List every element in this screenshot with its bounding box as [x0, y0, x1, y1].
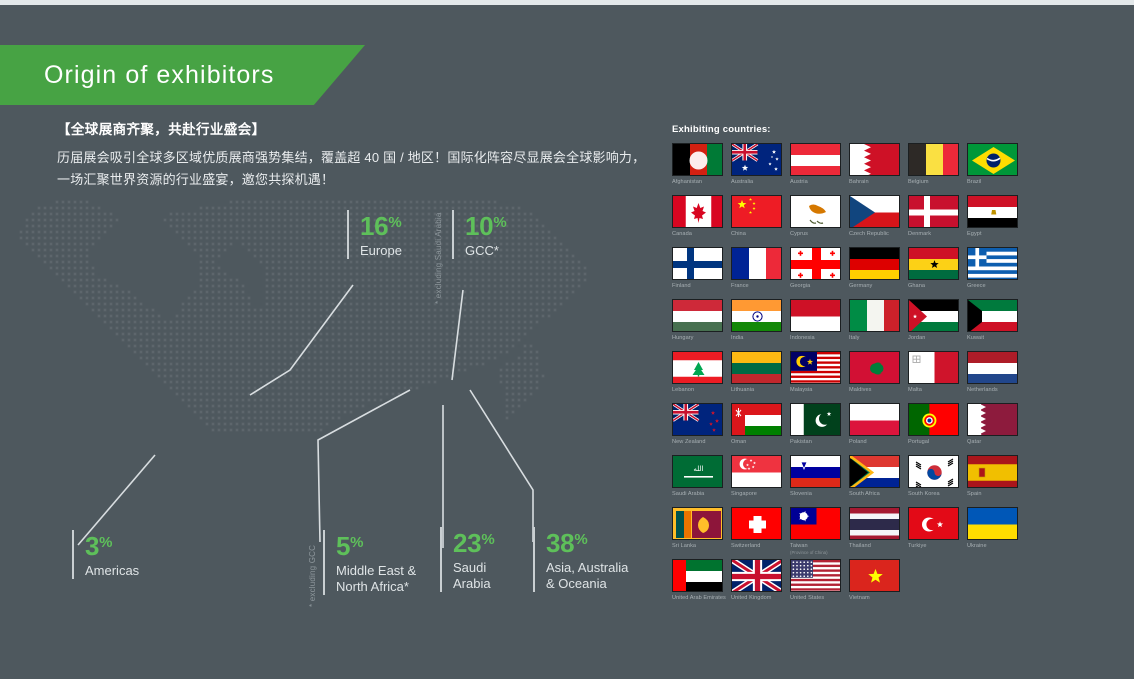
- flag-label: Denmark: [908, 231, 967, 238]
- flag-label: Ukraine: [967, 543, 1026, 550]
- flag-label: United States: [790, 595, 849, 602]
- flag-label: Austria: [790, 179, 849, 186]
- flag-label: United Arab Emirates: [672, 595, 731, 602]
- flag-item: Afghanistan: [672, 143, 731, 195]
- flag-label: Hungary: [672, 335, 731, 342]
- flag-label: Cyprus: [790, 231, 849, 238]
- flag-label: Australia: [731, 179, 790, 186]
- flag-item: Germany: [849, 247, 908, 299]
- flag-label: Afghanistan: [672, 179, 731, 186]
- flag-icon: [908, 247, 959, 280]
- flag-grid: Afghanistan AustraliaAustriaBahrainBelgi…: [672, 143, 1052, 611]
- flag-icon: [790, 507, 841, 540]
- flag-label: Sri Lanka: [672, 543, 731, 550]
- flag-icon: [672, 247, 723, 280]
- flag-icon: [672, 195, 723, 228]
- flag-item: Netherlands: [967, 351, 1026, 403]
- flag-label: Finland: [672, 283, 731, 290]
- flag-item: New Zealand: [672, 403, 731, 455]
- flag-icon: [908, 455, 959, 488]
- flag-label: Germany: [849, 283, 908, 290]
- flag-item: Vietnam: [849, 559, 908, 611]
- flag-label: Lebanon: [672, 387, 731, 394]
- flag-label: Belgium: [908, 179, 967, 186]
- stat-value-mena: 5%: [336, 530, 416, 559]
- flag-icon: [790, 247, 841, 280]
- flag-item: Georgia: [790, 247, 849, 299]
- flag-item: United Kingdom: [731, 559, 790, 611]
- flag-icon: [967, 247, 1018, 280]
- flag-icon: [967, 143, 1018, 176]
- flag-label: Poland: [849, 439, 908, 446]
- flag-icon: [849, 559, 900, 592]
- flag-icon: [731, 195, 782, 228]
- flag-label: Kuwait: [967, 335, 1026, 342]
- flag-icon: [672, 507, 723, 540]
- flag-item: Sri Lanka: [672, 507, 731, 559]
- flag-icon: [731, 559, 782, 592]
- flag-icon: [731, 455, 782, 488]
- flag-label: Greece: [967, 283, 1026, 290]
- page-title: Origin of exhibitors: [44, 61, 274, 90]
- flag-label: China: [731, 231, 790, 238]
- stat-label-asia: Asia, Australia & Oceania: [546, 560, 628, 592]
- flag-item: Slovenia: [790, 455, 849, 507]
- flag-item: United Arab Emirates: [672, 559, 731, 611]
- stat-value-asia: 38%: [546, 527, 628, 556]
- flag-label: Thailand: [849, 543, 908, 550]
- flag-item: France: [731, 247, 790, 299]
- flag-item: United States: [790, 559, 849, 611]
- flag-item: India: [731, 299, 790, 351]
- flag-icon: [790, 559, 841, 592]
- flag-item: Portugal: [908, 403, 967, 455]
- flag-item: Denmark: [908, 195, 967, 247]
- flag-item: Turkiye: [908, 507, 967, 559]
- flag-icon: [849, 299, 900, 332]
- intro-body: 历届展会吸引全球多区域优质展商强势集结，覆盖超 40 国 / 地区！国际化阵容尽…: [57, 147, 647, 191]
- flag-icon: [790, 455, 841, 488]
- flag-label: Lithuania: [731, 387, 790, 394]
- flag-icon: [967, 351, 1018, 384]
- flag-icon: [849, 455, 900, 488]
- flag-label: New Zealand: [672, 439, 731, 446]
- flag-icon: [672, 403, 723, 436]
- flag-item: Pakistan: [790, 403, 849, 455]
- flag-label: Vietnam: [849, 595, 908, 602]
- flag-label: Netherlands: [967, 387, 1026, 394]
- flag-item: Qatar: [967, 403, 1026, 455]
- flag-item: Brazil: [967, 143, 1026, 195]
- flag-item: Indonesia: [790, 299, 849, 351]
- stat-value-saudi-arabia: 23%: [453, 527, 494, 556]
- flag-item: Greece: [967, 247, 1026, 299]
- stat-value-gcc: 10%: [465, 210, 506, 239]
- top-accent-strip: [0, 0, 1134, 5]
- flag-icon: [790, 143, 841, 176]
- flag-item: South Korea: [908, 455, 967, 507]
- flag-icon: [849, 403, 900, 436]
- flag-label: Italy: [849, 335, 908, 342]
- flag-item: Lithuania: [731, 351, 790, 403]
- flag-label: Brazil: [967, 179, 1026, 186]
- stat-label-saudi-arabia: Saudi Arabia: [453, 560, 494, 592]
- slide-root: Origin of exhibitors 【全球展商齐聚，共赴行业盛会】 历届展…: [0, 0, 1134, 679]
- flag-label: Qatar: [967, 439, 1026, 446]
- intro-heading: 【全球展商齐聚，共赴行业盛会】: [57, 118, 647, 138]
- stat-label-mena: Middle East & North Africa*: [336, 563, 416, 595]
- flag-item: Thailand: [849, 507, 908, 559]
- flag-item: Maldives: [849, 351, 908, 403]
- footnote-excluding-saudi-arabia: * excluding Saudi Arabia: [434, 210, 443, 304]
- flag-icon: [672, 351, 723, 384]
- stat-label-europe: Europe: [360, 243, 402, 259]
- flag-icon: [790, 299, 841, 332]
- flag-item: Poland: [849, 403, 908, 455]
- flag-item: Australia: [731, 143, 790, 195]
- flag-label: Portugal: [908, 439, 967, 446]
- flag-label: Slovenia: [790, 491, 849, 498]
- flag-label: Oman: [731, 439, 790, 446]
- flag-label: United Kingdom: [731, 595, 790, 602]
- flag-icon: [790, 403, 841, 436]
- flag-icon: [731, 143, 782, 176]
- flag-item: Italy: [849, 299, 908, 351]
- flag-label: Singapore: [731, 491, 790, 498]
- flag-icon: [731, 299, 782, 332]
- flag-icon: [967, 299, 1018, 332]
- flag-label: Switzerland: [731, 543, 790, 550]
- flag-icon: [849, 351, 900, 384]
- flag-item: Singapore: [731, 455, 790, 507]
- intro-copy: 【全球展商齐聚，共赴行业盛会】 历届展会吸引全球多区域优质展商强势集结，覆盖超 …: [57, 118, 647, 191]
- flag-label: Ghana: [908, 283, 967, 290]
- flag-item: Jordan: [908, 299, 967, 351]
- stat-gcc: 10% GCC*: [452, 210, 506, 259]
- flag-icon: [849, 507, 900, 540]
- flag-label: Indonesia: [790, 335, 849, 342]
- flag-item: Switzerland: [731, 507, 790, 559]
- flag-icon: [908, 351, 959, 384]
- stat-value-europe: 16%: [360, 210, 402, 239]
- flag-label: Taiwan: [790, 543, 849, 550]
- world-map-chart: 16% Europe 10% GCC* * excluding Saudi Ar…: [0, 190, 660, 640]
- flag-item: اللهSaudi Arabia: [672, 455, 731, 507]
- flag-item: Spain: [967, 455, 1026, 507]
- svg-text:الله: الله: [693, 465, 703, 473]
- flag-item: Malta: [908, 351, 967, 403]
- flag-item: Lebanon: [672, 351, 731, 403]
- flag-item: Canada: [672, 195, 731, 247]
- stat-asia-australia-oceania: 38% Asia, Australia & Oceania: [533, 527, 628, 592]
- stat-europe: 16% Europe: [347, 210, 402, 259]
- flag-label: Bahrain: [849, 179, 908, 186]
- flag-icon: [967, 195, 1018, 228]
- flag-item: Belgium: [908, 143, 967, 195]
- flag-label: South Africa: [849, 491, 908, 498]
- flag-item: Egypt: [967, 195, 1026, 247]
- flag-label: Turkiye: [908, 543, 967, 550]
- flag-label: Canada: [672, 231, 731, 238]
- flag-label: Jordan: [908, 335, 967, 342]
- stat-mena: 5% Middle East & North Africa*: [323, 530, 416, 595]
- flag-item: Taiwan(Province of China): [790, 507, 849, 559]
- stat-label-americas: Americas: [85, 563, 139, 579]
- flag-icon: [908, 507, 959, 540]
- flag-label: Malta: [908, 387, 967, 394]
- exhibiting-countries-heading: Exhibiting countries:: [672, 124, 1052, 135]
- flag-icon: [908, 195, 959, 228]
- flag-icon: [967, 403, 1018, 436]
- stat-saudi-arabia: 23% Saudi Arabia: [440, 527, 494, 592]
- flag-icon: [731, 247, 782, 280]
- flag-icon: [790, 195, 841, 228]
- flag-icon: [672, 143, 723, 176]
- flag-item: Kuwait: [967, 299, 1026, 351]
- flag-item: Cyprus: [790, 195, 849, 247]
- flag-item: Malaysia: [790, 351, 849, 403]
- flag-icon: [849, 143, 900, 176]
- flag-label: Maldives: [849, 387, 908, 394]
- flag-icon: [790, 351, 841, 384]
- stat-americas: 3% Americas: [72, 530, 139, 579]
- flag-item: Ghana: [908, 247, 967, 299]
- stat-label-gcc: GCC*: [465, 243, 506, 259]
- flag-item: China: [731, 195, 790, 247]
- stat-value-americas: 3%: [85, 530, 139, 559]
- flag-item: Austria: [790, 143, 849, 195]
- flag-icon: [849, 247, 900, 280]
- exhibiting-countries-panel: Exhibiting countries: Afghanistan Austra…: [672, 124, 1052, 611]
- flag-sublabel: (Province of China): [790, 550, 849, 556]
- flag-item: Czech Republic: [849, 195, 908, 247]
- flag-label: Czech Republic: [849, 231, 908, 238]
- flag-item: Hungary: [672, 299, 731, 351]
- section-banner: Origin of exhibitors: [0, 45, 365, 105]
- flag-item: Ukraine: [967, 507, 1026, 559]
- flag-label: Egypt: [967, 231, 1026, 238]
- flag-icon: [731, 351, 782, 384]
- flag-item: South Africa: [849, 455, 908, 507]
- flag-label: Georgia: [790, 283, 849, 290]
- flag-label: Pakistan: [790, 439, 849, 446]
- flag-item: Oman: [731, 403, 790, 455]
- flag-label: Saudi Arabia: [672, 491, 731, 498]
- flag-label: Spain: [967, 491, 1026, 498]
- flag-icon: [967, 455, 1018, 488]
- flag-label: France: [731, 283, 790, 290]
- flag-label: South Korea: [908, 491, 967, 498]
- flag-icon: [908, 299, 959, 332]
- flag-icon: الله: [672, 455, 723, 488]
- flag-item: Bahrain: [849, 143, 908, 195]
- flag-icon: [908, 403, 959, 436]
- flag-icon: [672, 299, 723, 332]
- flag-item: Finland: [672, 247, 731, 299]
- flag-icon: [731, 507, 782, 540]
- flag-icon: [967, 507, 1018, 540]
- flag-icon: [908, 143, 959, 176]
- leader-lines: [78, 285, 533, 548]
- footnote-excluding-gcc: * excluding GCC: [308, 535, 317, 607]
- flag-icon: [849, 195, 900, 228]
- flag-label: India: [731, 335, 790, 342]
- flag-icon: [672, 559, 723, 592]
- flag-icon: [731, 403, 782, 436]
- flag-label: Malaysia: [790, 387, 849, 394]
